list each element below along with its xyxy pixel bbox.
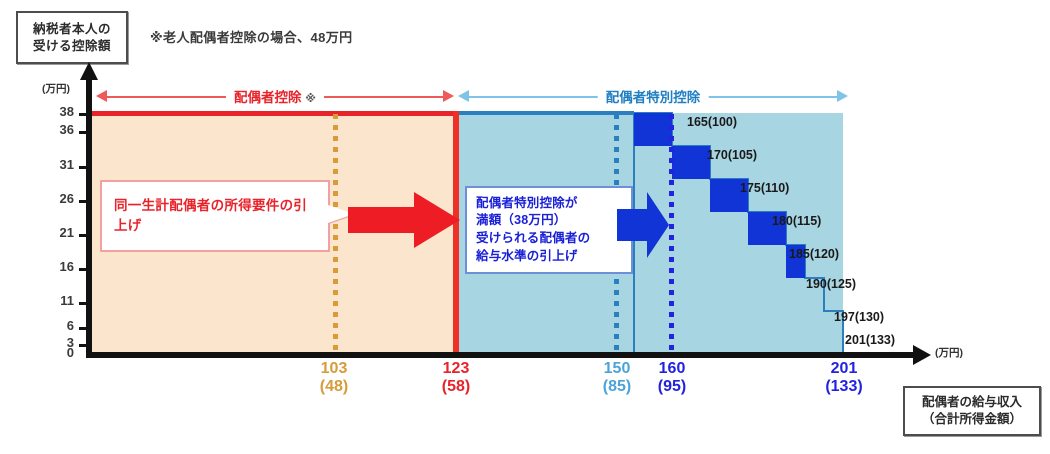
y-tick-label-26: 26 [44,191,74,206]
y-axis-arrow-head [80,62,98,80]
step-label-201: 201(133) [845,333,895,347]
x-tick-value: 103 [321,360,348,377]
y-tick-label-0: 0 [44,345,74,360]
x-axis-caption-line1: 配偶者の給与収入 [922,394,1022,412]
y-tick-label-21: 21 [44,225,74,240]
step-label-165: 165(100) [687,115,737,129]
x-tick-value: 201 [831,360,858,377]
y-tick-mark-36 [79,131,86,134]
y-tick-label-6: 6 [44,318,74,333]
x-tick-sub: (133) [811,378,877,396]
x-tick-sub: (58) [425,378,487,396]
x-axis-caption-box: 配偶者の給与収入 （合計所得金額） [903,386,1041,436]
callout-salary-level: 配偶者特別控除が 満額（38万円） 受けられる配偶者の 給与水準の引上げ [465,186,633,274]
y-tick-label-36: 36 [44,122,74,137]
x-tick-value: 123 [443,360,470,377]
range-label-deduction: 配偶者控除 ※ [226,86,324,106]
y-tick-label-31: 31 [44,157,74,172]
y-tick-label-38: 38 [44,104,74,119]
range-label-special-deduction: 配偶者特別控除 [598,86,709,106]
x-tick-label-160: 160 (95) [641,360,703,397]
x-tick-label-150: 150 (85) [586,360,648,397]
y-tick-mark-21 [79,234,86,237]
x-tick-label-201: 201 (133) [811,360,877,397]
y-tick-mark-3 [79,344,86,347]
step-label-175: 175(110) [740,181,789,195]
x-tick-label-123: 123 (58) [425,360,487,397]
x-tick-label-103: 103 (48) [303,360,365,397]
y-tick-label-11: 11 [44,293,74,308]
range-arrow-right-head [443,90,454,102]
step-label-190: 190(125) [806,277,856,291]
x-tick-sub: (95) [641,378,703,396]
callout-blue-line2: 満額（38万円） [476,212,590,230]
callout-blue-line4: 給与水準の引上げ [476,248,590,266]
step-label-170: 170(105) [707,148,757,162]
x-tick-value: 160 [659,360,686,377]
y-tick-mark-11 [79,302,86,305]
range-arrow-deduction: 配偶者控除 ※ [96,90,454,104]
range-arrow-right-head [837,90,848,102]
x-tick-sub: (48) [303,378,365,396]
x-axis-unit-label: (万円) [935,345,963,360]
y-tick-mark-16 [79,268,86,271]
step-label-180: 180(115) [772,214,821,228]
guide-line-160 [669,114,674,353]
guide-line-103 [333,114,338,353]
y-tick-mark-38 [79,113,86,116]
x-axis-line [86,352,916,358]
callout-blue-line1: 配偶者特別控除が [476,195,590,213]
y-tick-mark-6 [79,327,86,330]
x-axis-caption-line2: （合計所得金額） [922,411,1022,429]
y-tick-label-16: 16 [44,259,74,274]
y-axis-unit-label: (万円) [42,81,70,96]
callout-income-requirement: 同一生計配偶者の所得要件の引上げ [100,180,330,252]
callout-blue-line3: 受けられる配偶者の [476,230,590,248]
step-label-197: 197(130) [834,310,884,324]
y-tick-mark-31 [79,166,86,169]
red-shift-arrow-icon [348,192,460,248]
x-axis-arrow-head [913,345,931,365]
range-arrow-special-deduction: 配偶者特別控除 [458,90,848,104]
step-label-185: 185(120) [789,247,839,261]
blue-shift-arrow-icon [617,192,669,258]
range-note-asterisk: ※ [305,93,316,105]
y-axis-line [86,76,92,356]
y-tick-mark-26 [79,200,86,203]
range-arrow-left-head [96,90,107,102]
x-tick-value: 150 [604,360,631,377]
range-arrow-left-head [458,90,469,102]
x-tick-sub: (85) [586,378,648,396]
